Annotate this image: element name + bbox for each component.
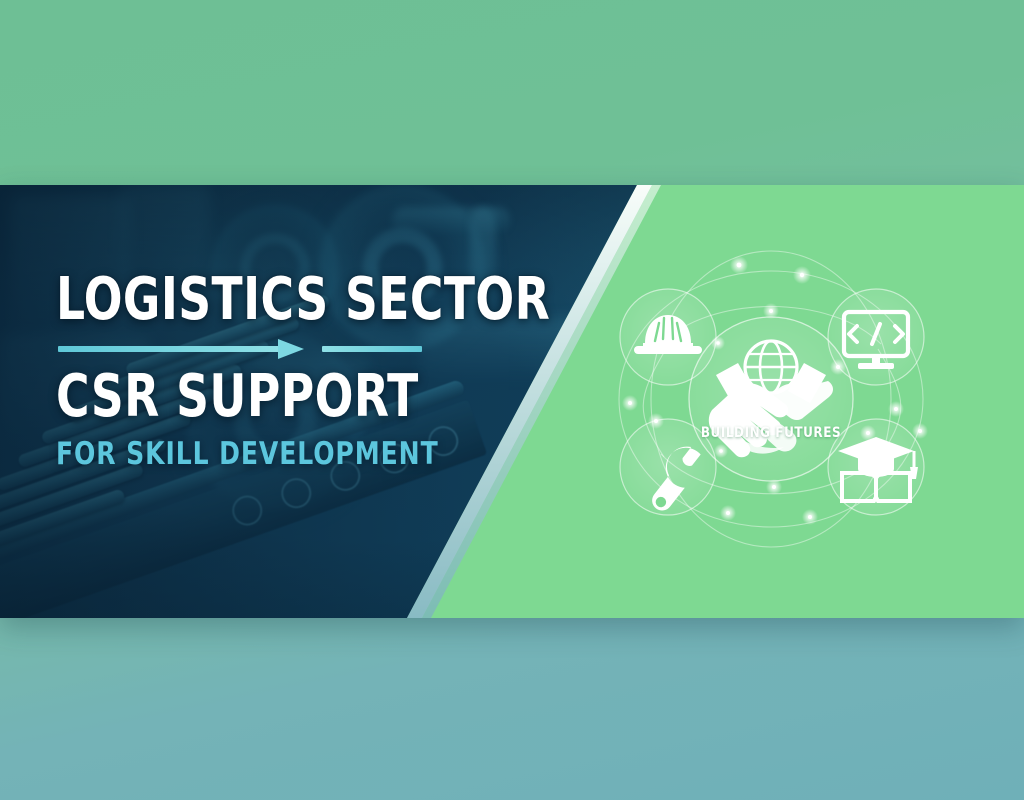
- arrow-right-divider-icon: [56, 337, 421, 361]
- center-label: BUILDING FUTURES: [619, 425, 923, 441]
- banner-canvas: LOGISTICS SECTOR CSR SUPPORT FOR SKILL D…: [0, 0, 1024, 800]
- page-subtitle: CSR SUPPORT: [56, 367, 469, 425]
- banner-graphic: LOGISTICS SECTOR CSR SUPPORT FOR SKILL D…: [0, 185, 1024, 618]
- divider-bar-right: [322, 346, 422, 352]
- page-tagline: FOR SKILL DEVELOPMENT: [56, 436, 488, 472]
- page-title: LOGISTICS SECTOR: [56, 271, 469, 328]
- network-diagram: [606, 249, 936, 559]
- divider-arrowhead: [278, 339, 304, 359]
- headline-block: LOGISTICS SECTOR CSR SUPPORT FOR SKILL D…: [56, 271, 536, 472]
- divider-bar-left: [58, 346, 282, 352]
- network-graphic: BUILDING FUTURES: [606, 249, 936, 559]
